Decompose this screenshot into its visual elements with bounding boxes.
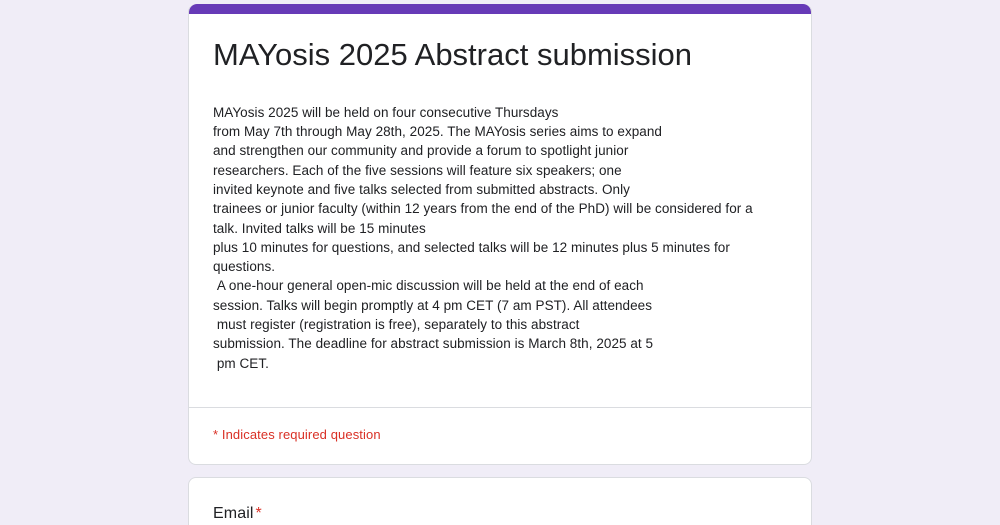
- form-header-card: MAYosis 2025 Abstract submission MAYosis…: [188, 4, 812, 465]
- email-field-label: Email: [213, 505, 254, 522]
- form-header-body: MAYosis 2025 Abstract submission MAYosis…: [189, 14, 811, 407]
- form-page: MAYosis 2025 Abstract submission MAYosis…: [0, 0, 1000, 525]
- question-card-email[interactable]: Email*: [188, 477, 812, 525]
- required-question-note: * Indicates required question: [189, 408, 811, 464]
- page-title: MAYosis 2025 Abstract submission: [213, 34, 787, 75]
- required-asterisk: *: [256, 505, 262, 522]
- accent-bar: [189, 4, 811, 14]
- form-description: MAYosis 2025 will be held on four consec…: [213, 81, 787, 407]
- form-container: MAYosis 2025 Abstract submission MAYosis…: [188, 4, 812, 525]
- question-label-email: Email*: [213, 502, 787, 525]
